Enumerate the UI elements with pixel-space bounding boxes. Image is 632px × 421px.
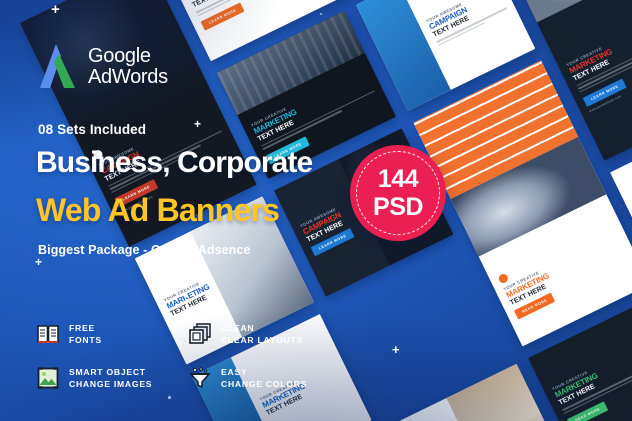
feature-smart-object: SMART OBJECT CHANGE IMAGES (36, 356, 188, 400)
tagline: Biggest Package - Google Adsence (38, 243, 251, 257)
decor-dot (320, 13, 322, 15)
headline-primary: Business, Corporate (36, 146, 312, 180)
plus-mark: + (392, 343, 400, 356)
layers-icon (188, 322, 212, 346)
feature-line1: CLEAN (221, 322, 303, 334)
badge-count: 144 (378, 167, 418, 192)
headline-secondary: Web Ad Banners (36, 192, 279, 229)
book-icon (36, 322, 60, 346)
plus-mark: + (35, 256, 42, 268)
feature-free-fonts: FREE FONTS (36, 312, 188, 356)
feature-change-colors: EASY CHANGE COLORS (188, 356, 340, 400)
google-adwords-logo: Google AdWords (37, 42, 168, 92)
decor-dot (168, 396, 171, 399)
psd-count-badge: 144 PSD (350, 145, 446, 241)
feature-line1: SMART OBJECT (69, 366, 152, 378)
google-adwords-wordmark: Google AdWords (88, 46, 168, 87)
feature-line2: CHANGE IMAGES (69, 378, 152, 390)
plus-mark: + (194, 118, 201, 130)
feature-clean-layouts: CLEAN CLEAR LAYOUTS (188, 312, 340, 356)
feature-line2: FONTS (69, 334, 102, 346)
feature-text: FREE FONTS (69, 322, 102, 347)
feature-line1: EASY (221, 366, 307, 378)
feature-text: EASY CHANGE COLORS (221, 366, 307, 391)
brand-line-google: Google (88, 46, 168, 67)
feature-line2: CHANGE COLORS (221, 378, 307, 390)
plus-mark: + (51, 2, 60, 17)
feature-line1: FREE (69, 322, 102, 334)
plus-mark: + (182, 291, 188, 302)
brand-line-adwords: AdWords (88, 67, 168, 88)
feature-line2: CLEAR LAYOUTS (221, 334, 303, 346)
funnel-icon (188, 366, 212, 390)
image-icon (36, 366, 60, 390)
google-adwords-a-mark (37, 42, 79, 92)
badge-format: PSD (373, 195, 423, 220)
hero-panel: Google AdWords 08 Sets Included Business… (0, 0, 360, 421)
promo-poster: YOUR AWESOME CAMPAIGN TEXT HERE LEARN MO… (0, 0, 632, 421)
feature-text: CLEAN CLEAR LAYOUTS (221, 322, 303, 347)
feature-text: SMART OBJECT CHANGE IMAGES (69, 366, 152, 391)
decor-dot (277, 393, 280, 396)
sets-included-label: 08 Sets Included (38, 122, 146, 137)
feature-list: FREE FONTS CLEAN CLEAR LAYOUTS (36, 312, 336, 400)
